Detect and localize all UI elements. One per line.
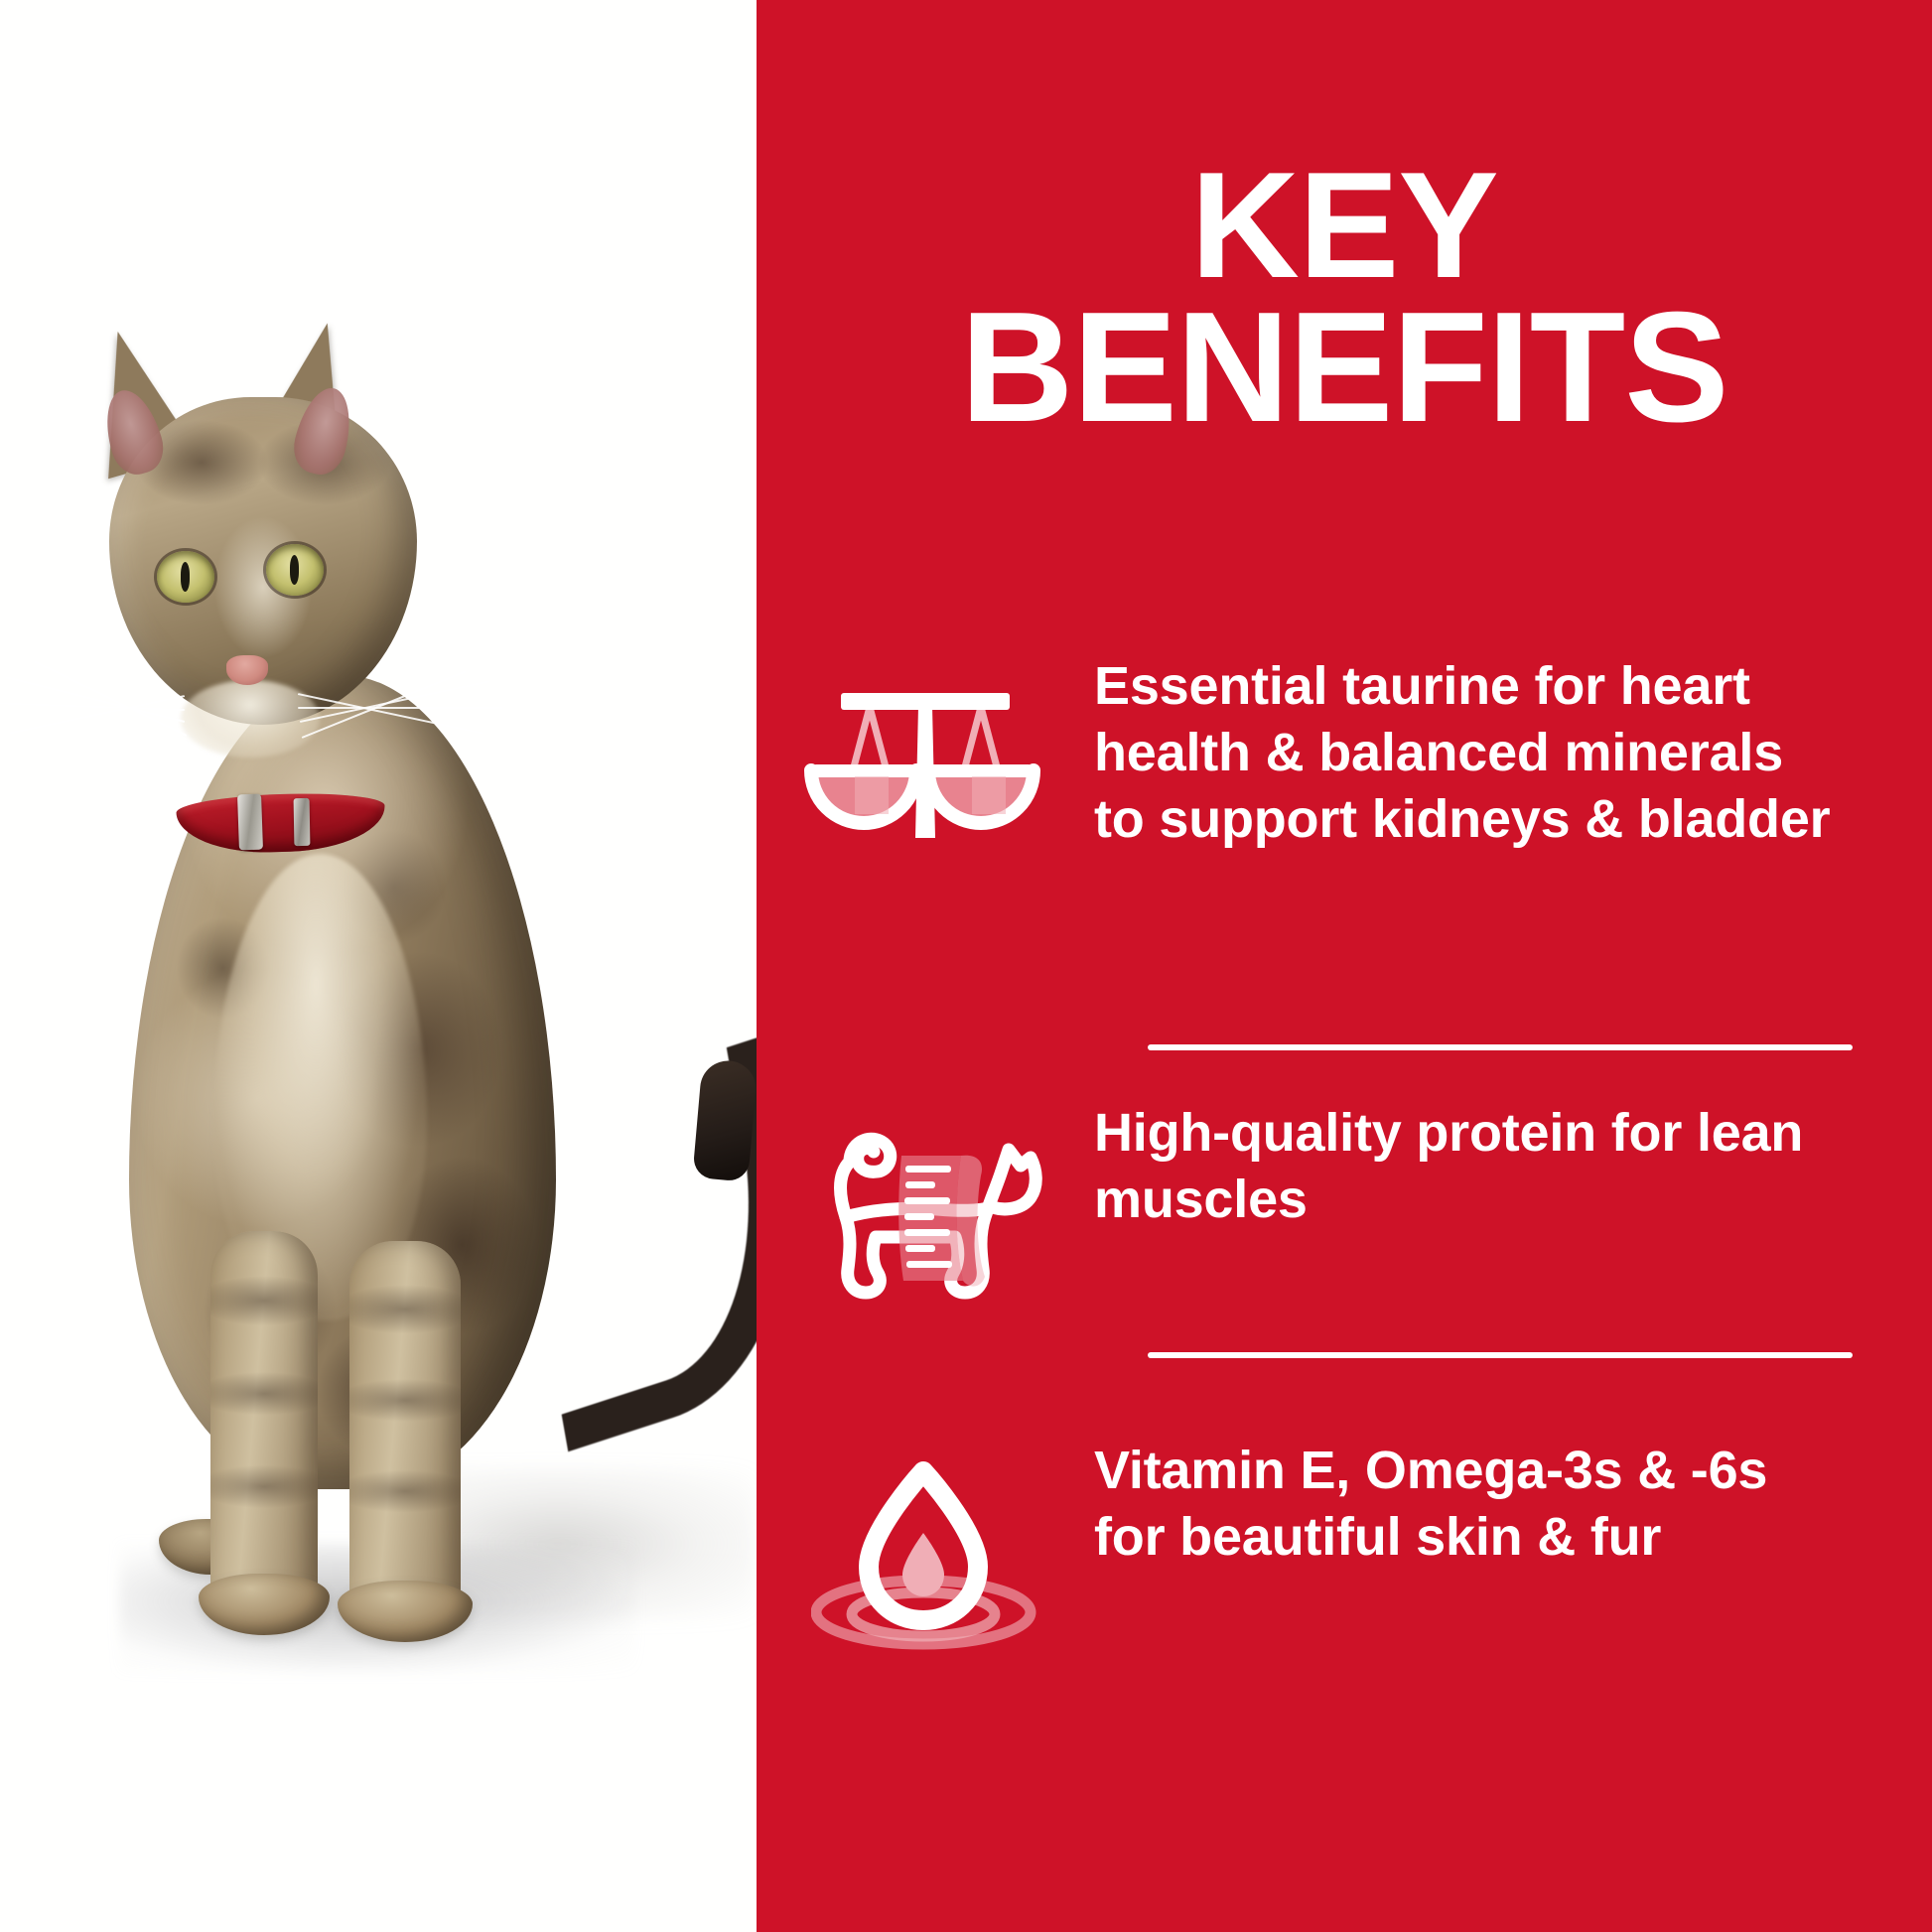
cat-eye-left xyxy=(157,551,214,603)
benefit-item-1: Essential taurine for heart health & bal… xyxy=(757,653,1932,853)
benefit-item-2: High-quality protein for lean muscles xyxy=(757,1100,1932,1312)
page-title-line-2: BENEFITS xyxy=(757,296,1932,440)
benefit-icon-wrap-3 xyxy=(757,1438,1094,1650)
benefit-item-3: Vitamin E, Omega-3s & -6s for beautiful … xyxy=(757,1438,1932,1650)
cat-whisker xyxy=(0,702,185,711)
cat-pupil-right xyxy=(290,555,299,585)
benefit-text-2: High-quality protein for lean muscles xyxy=(1094,1100,1932,1233)
cat-photo-panel xyxy=(0,0,757,1932)
cat-whisker xyxy=(298,707,502,709)
benefit-icon-wrap-1 xyxy=(757,653,1094,846)
key-benefits-panel: KEY BENEFITS xyxy=(0,0,1932,1932)
benefit-text-1: Essential taurine for heart health & bal… xyxy=(1094,653,1932,853)
cat-muzzle xyxy=(181,680,320,758)
balance-scales-icon xyxy=(797,667,1053,846)
cat-measuring-tape-icon xyxy=(806,1114,1044,1312)
cat-front-leg-left xyxy=(210,1231,318,1618)
cat-eye-right xyxy=(266,544,324,596)
benefit-divider-1 xyxy=(1148,1044,1853,1050)
benefits-red-panel: KEY BENEFITS xyxy=(757,0,1932,1932)
cat-pupil-left xyxy=(181,562,190,592)
page-title: KEY BENEFITS xyxy=(757,157,1932,440)
cat-nose xyxy=(226,655,268,685)
benefit-divider-2 xyxy=(1148,1352,1853,1358)
benefit-text-3: Vitamin E, Omega-3s & -6s for beautiful … xyxy=(1094,1438,1932,1571)
cat-collar-keeper xyxy=(294,798,311,846)
cat-front-leg-right xyxy=(349,1241,461,1620)
cat-collar-buckle xyxy=(237,794,263,851)
page-title-line-1: KEY xyxy=(757,157,1932,296)
benefit-icon-wrap-2 xyxy=(757,1100,1094,1312)
water-droplet-icon xyxy=(811,1451,1039,1650)
